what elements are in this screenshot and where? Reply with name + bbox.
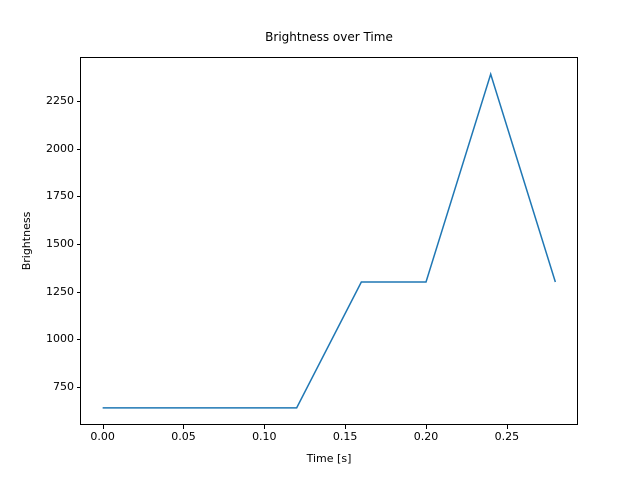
- y-tick-mark: [77, 196, 81, 197]
- x-tick-mark: [183, 425, 184, 429]
- x-axis-label: Time [s]: [80, 452, 578, 465]
- x-tick-label: 0.05: [153, 431, 213, 442]
- y-tick-mark: [77, 339, 81, 340]
- y-tick-mark: [77, 387, 81, 388]
- x-tick-mark: [507, 425, 508, 429]
- y-axis-label: Brightness: [20, 57, 33, 425]
- plot-area: [80, 57, 578, 425]
- y-tick-mark: [77, 149, 81, 150]
- x-tick-label: 0.15: [315, 431, 375, 442]
- chart-title: Brightness over Time: [80, 30, 578, 44]
- x-tick-label: 0.00: [73, 431, 133, 442]
- x-tick-label: 0.20: [396, 431, 456, 442]
- y-tick-mark: [77, 101, 81, 102]
- brightness-line-series: [103, 74, 556, 408]
- x-tick-label: 0.25: [477, 431, 537, 442]
- x-tick-mark: [103, 425, 104, 429]
- figure-canvas: Brightness over Time 7501000125015001750…: [0, 0, 640, 480]
- x-tick-mark: [426, 425, 427, 429]
- y-tick-mark: [77, 292, 81, 293]
- x-tick-mark: [264, 425, 265, 429]
- y-tick-mark: [77, 244, 81, 245]
- x-tick-label: 0.10: [234, 431, 294, 442]
- x-tick-mark: [345, 425, 346, 429]
